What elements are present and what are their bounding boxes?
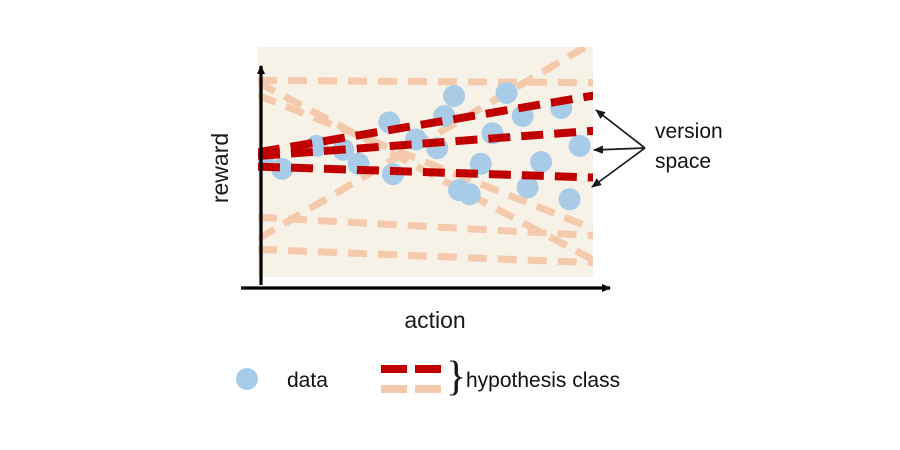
legend-dash-peach-2 [415, 385, 441, 393]
legend-brace-icon: } [446, 354, 466, 400]
data-point [496, 82, 518, 104]
data-point [459, 183, 481, 205]
legend-dash-red-1 [381, 365, 407, 373]
legend-dash-red-2 [415, 365, 441, 373]
version-space-diagram: reward action version space data } hypot… [0, 0, 900, 450]
data-point [569, 135, 591, 157]
legend-hypothesis-label: hypothesis class [466, 369, 620, 392]
y-axis-label: reward [207, 133, 233, 203]
data-point [559, 188, 581, 210]
data-point [530, 151, 552, 173]
legend-dash-peach-1 [381, 385, 407, 393]
x-axis-label: action [404, 307, 465, 333]
data-point [443, 85, 465, 107]
version-space-label-line2: space [655, 150, 711, 173]
legend-data-marker [236, 368, 258, 390]
legend-data-label: data [287, 369, 328, 392]
version-space-label-line1: version [655, 120, 723, 143]
